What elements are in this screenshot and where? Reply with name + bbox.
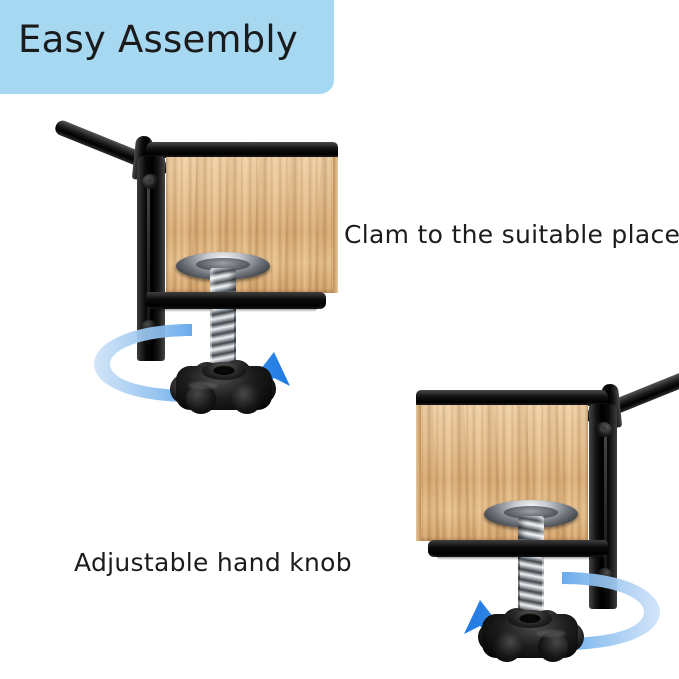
lower-clamp-jaw-shadow: [150, 305, 318, 312]
wooden-desktop-edge: [333, 157, 338, 293]
caption-clamp-to-suitable-place: Clam to the suitable place: [344, 220, 679, 249]
knob-screw-hole: [213, 365, 235, 375]
page-title: Easy Assembly: [18, 18, 298, 61]
adjustable-hand-knob: [170, 360, 278, 412]
infographic-canvas: Easy Assembly Clam to the suitable place…: [0, 0, 679, 679]
upper-clamp-jaw: [146, 142, 338, 158]
knob-highlight: [188, 382, 218, 389]
adjustable-hand-knob: [476, 608, 584, 660]
knob-lobe: [232, 384, 262, 414]
wooden-desktop-edge: [416, 405, 421, 541]
clamp-assembly-bottom-right: [432, 360, 679, 660]
assembly-geometry-group: [62, 112, 322, 412]
upper-clamp-jaw: [416, 390, 608, 406]
post-bolt-upper-icon: [142, 174, 159, 189]
header-banner: Easy Assembly: [0, 0, 334, 94]
caption-adjustable-hand-knob: Adjustable hand knob: [74, 548, 352, 577]
clamp-assembly-top-left: [62, 112, 322, 412]
post-bolt-upper-icon: [595, 422, 612, 437]
post-bolt-lower-icon: [597, 568, 612, 581]
post-bolt-lower-icon: [142, 320, 157, 333]
knob-lobe: [492, 632, 522, 662]
knob-highlight: [536, 630, 566, 637]
assembly-geometry-group: [432, 360, 679, 660]
knob-screw-hole: [519, 613, 541, 623]
